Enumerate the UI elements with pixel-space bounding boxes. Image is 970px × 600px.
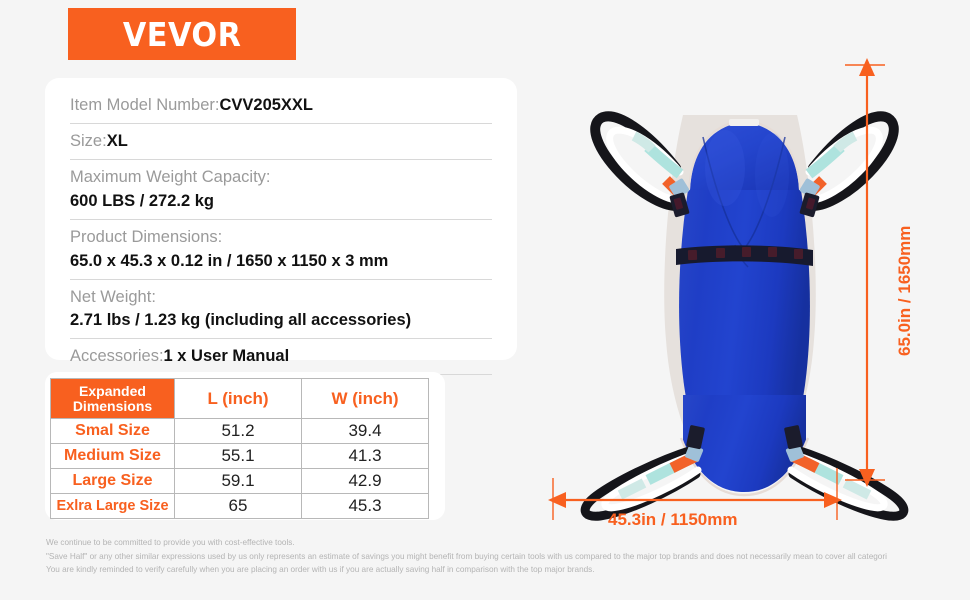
shoulder-strap-right (799, 116, 894, 217)
footer-line-2: "Save Half" or any other similar express… (46, 550, 970, 564)
product-image-area: 65.0in / 1650mm 45.3in / 1150mm (520, 40, 970, 540)
spec-label-item-model-number: Item Model Number: (70, 96, 219, 114)
table-header-width: W (inch) (302, 379, 429, 419)
spec-value-product-dimensions: 65.0 x 45.3 x 0.12 in / 1650 x 1150 x 3 … (70, 250, 492, 274)
shoulder-strap-left (595, 116, 690, 217)
spec-row-size: Size: XL (70, 124, 492, 160)
table-row-label-large: Large Size (51, 469, 175, 494)
spec-value-size: XL (107, 132, 128, 150)
specification-card: Item Model Number: CVV205XXL Size: XL Ma… (45, 78, 517, 360)
table-row: Exlra Large Size 65 45.3 (51, 494, 429, 519)
spec-label-accessories: Accessories: (70, 347, 164, 365)
spec-label-product-dimensions: Product Dimensions: (70, 226, 492, 250)
spec-row-net-weight: Net Weight: 2.71 lbs / 1.23 kg (includin… (70, 280, 492, 340)
table-corner-header-line1: Expanded (52, 384, 173, 399)
table-corner-header: Expanded Dimensions (51, 379, 175, 419)
spec-value-accessories: 1 x User Manual (164, 347, 290, 365)
footer-disclaimer: We continue to be committed to provide y… (46, 536, 970, 577)
table-cell-large-width: 42.9 (302, 469, 429, 494)
table-cell-large-length: 59.1 (175, 469, 302, 494)
spec-row-product-dimensions: Product Dimensions: 65.0 x 45.3 x 0.12 i… (70, 220, 492, 280)
table-cell-extra-large-width: 45.3 (302, 494, 429, 519)
spec-label-size: Size: (70, 132, 107, 150)
expanded-dimensions-table: Expanded Dimensions L (inch) W (inch) Sm… (50, 378, 429, 519)
spec-label-maximum-weight-capacity: Maximum Weight Capacity: (70, 166, 492, 190)
table-row: Smal Size 51.2 39.4 (51, 419, 429, 444)
spec-value-net-weight: 2.71 lbs / 1.23 kg (including all access… (70, 309, 492, 333)
spec-value-maximum-weight-capacity: 600 LBS / 272.2 kg (70, 190, 492, 214)
table-row: Medium Size 55.1 41.3 (51, 444, 429, 469)
table-cell-medium-length: 55.1 (175, 444, 302, 469)
specification-list: Item Model Number: CVV205XXL Size: XL Ma… (70, 88, 492, 375)
table-cell-small-length: 51.2 (175, 419, 302, 444)
table-row-label-extra-large: Exlra Large Size (51, 494, 175, 519)
table-corner-header-line2: Dimensions (52, 399, 173, 414)
table-header-length: L (inch) (175, 379, 302, 419)
spec-label-net-weight: Net Weight: (70, 286, 492, 310)
table-cell-small-width: 39.4 (302, 419, 429, 444)
vevor-logo-text: VEVOR (123, 15, 242, 54)
footer-line-3: You are kindly reminded to verify carefu… (46, 563, 970, 577)
spec-row-accessories: Accessories: 1 x User Manual (70, 339, 492, 375)
spec-row-item-model-number: Item Model Number: CVV205XXL (70, 88, 492, 124)
table-row: Large Size 59.1 42.9 (51, 469, 429, 494)
spec-row-maximum-weight-capacity: Maximum Weight Capacity: 600 LBS / 272.2… (70, 160, 492, 220)
table-header-row: Expanded Dimensions L (inch) W (inch) (51, 379, 429, 419)
table-cell-medium-width: 41.3 (302, 444, 429, 469)
vevor-logo: VEVOR (68, 8, 296, 60)
footer-line-1: We continue to be committed to provide y… (46, 536, 970, 550)
vertical-dimension-label: 65.0in / 1650mm (895, 226, 915, 356)
horizontal-dimension-label: 45.3in / 1150mm (608, 510, 737, 530)
table-cell-extra-large-length: 65 (175, 494, 302, 519)
spec-value-item-model-number: CVV205XXL (219, 96, 313, 114)
table-row-label-small: Smal Size (51, 419, 175, 444)
table-row-label-medium: Medium Size (51, 444, 175, 469)
